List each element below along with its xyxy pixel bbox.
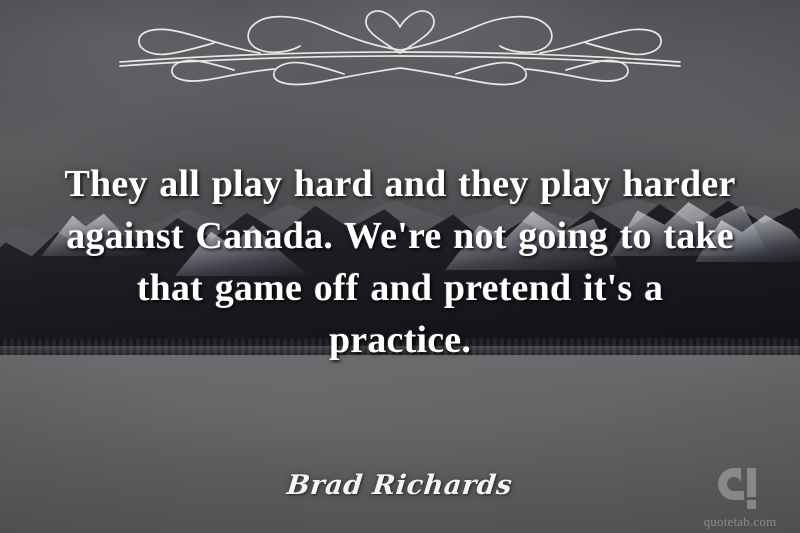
author-name: Brad Richards — [286, 470, 514, 501]
author-block: Brad Richards — [0, 470, 800, 501]
watermark[interactable]: quotetab.com — [688, 466, 792, 529]
quote-text: They all play hard and they play harder … — [60, 158, 740, 366]
quotetab-logo-icon — [716, 466, 764, 514]
lake-water — [0, 355, 800, 533]
quote-card: They all play hard and they play harder … — [0, 0, 800, 533]
quote-block: They all play hard and they play harder … — [60, 158, 740, 366]
heart-flourish-divider-icon — [80, 6, 720, 92]
watermark-text: quotetab.com — [688, 515, 792, 529]
